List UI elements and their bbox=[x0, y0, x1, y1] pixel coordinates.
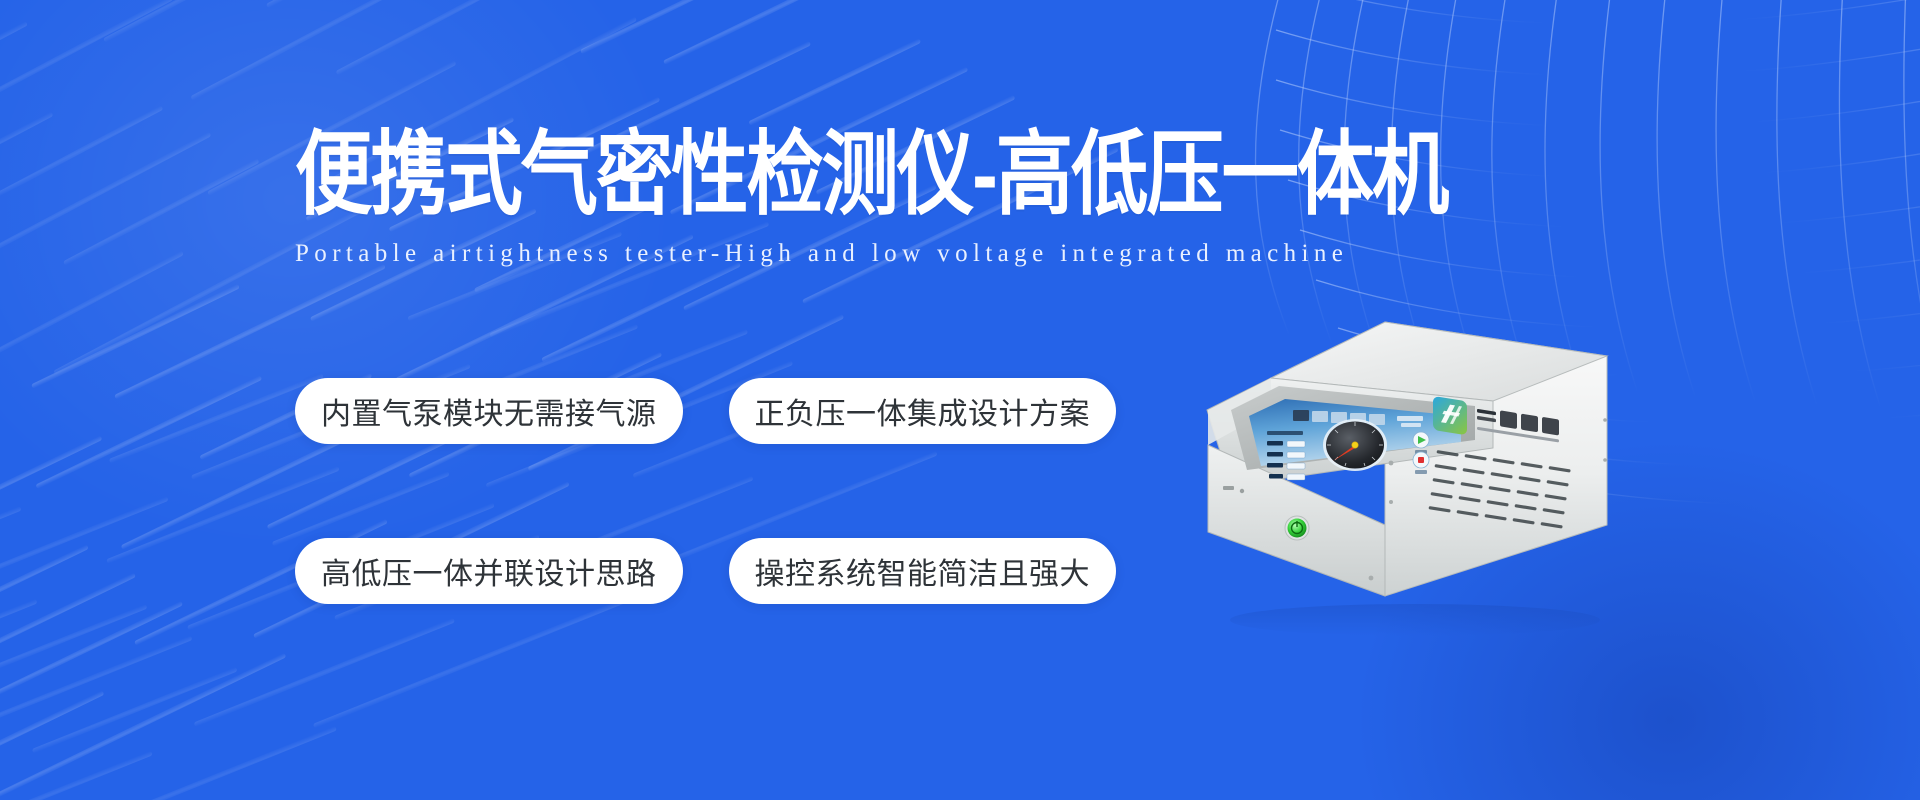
feature-pill[interactable]: 正负压一体集成设计方案 bbox=[729, 378, 1117, 444]
feature-pill-grid: 内置气泵模块无需接气源 正负压一体集成设计方案 高低压一体并联设计思路 操控系统… bbox=[295, 378, 1116, 604]
connector-port-icon bbox=[1240, 489, 1244, 493]
product-shadow bbox=[1230, 604, 1600, 636]
stop-icon[interactable] bbox=[1418, 457, 1424, 463]
field-value[interactable] bbox=[1287, 452, 1305, 458]
gauge-hub bbox=[1352, 442, 1358, 448]
content-column: 便携式气密性检测仪-高低压一体机 Portable airtightness t… bbox=[0, 0, 1180, 800]
product-illustration bbox=[1175, 300, 1635, 650]
feature-pill[interactable]: 高低压一体并联设计思路 bbox=[295, 538, 683, 604]
page-title: 便携式气密性检测仪-高低压一体机 bbox=[295, 128, 1447, 220]
logo-mark-background bbox=[1433, 396, 1467, 435]
usb-port-icon bbox=[1223, 486, 1234, 490]
menu-item-main[interactable] bbox=[1293, 410, 1309, 421]
title-block: 便携式气密性检测仪-高低压一体机 Portable airtightness t… bbox=[295, 128, 1459, 268]
menu-item-params[interactable] bbox=[1312, 411, 1328, 422]
power-button[interactable] bbox=[1285, 516, 1309, 540]
field-value[interactable] bbox=[1287, 463, 1305, 469]
page-subtitle: Portable airtightness tester-High and lo… bbox=[295, 240, 1459, 268]
feature-pill[interactable]: 操控系统智能简洁且强大 bbox=[729, 538, 1117, 604]
screen-time bbox=[1401, 423, 1421, 427]
hero-banner: 便携式气密性检测仪-高低压一体机 Portable airtightness t… bbox=[0, 0, 1920, 800]
pressure-gauge bbox=[1323, 419, 1387, 471]
screen-date bbox=[1397, 416, 1423, 421]
feature-pill[interactable]: 内置气泵模块无需接气源 bbox=[295, 378, 683, 444]
product-image bbox=[1175, 300, 1635, 650]
field-value[interactable] bbox=[1287, 474, 1305, 480]
panel-title bbox=[1267, 431, 1303, 435]
field-value[interactable] bbox=[1287, 441, 1305, 447]
